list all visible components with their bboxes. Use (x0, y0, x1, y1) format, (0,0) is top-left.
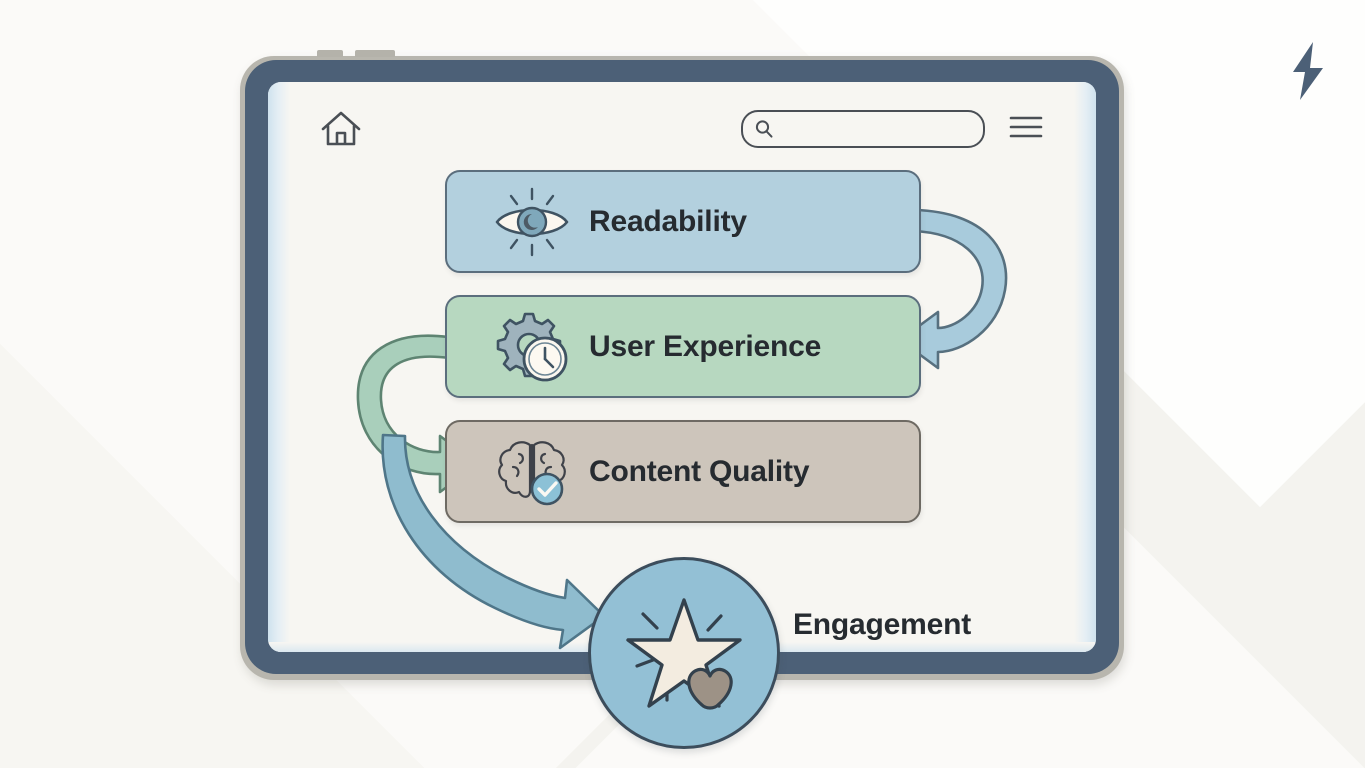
hamburger-menu-icon[interactable] (1008, 112, 1044, 142)
flow-node-content-quality[interactable]: Content Quality (445, 420, 921, 523)
screen-edge-glow-right (1074, 82, 1096, 652)
gear-clock-icon (489, 308, 575, 386)
tablet-button-power[interactable] (355, 50, 395, 57)
flow-node-label: Readability (589, 205, 747, 239)
search-bar[interactable] (741, 110, 985, 148)
flow-node-engagement[interactable] (588, 557, 780, 749)
eye-icon (489, 183, 575, 261)
brain-check-icon (489, 433, 575, 511)
star-heart-icon (609, 578, 759, 728)
flow-node-user-experience[interactable]: User Experience (445, 295, 921, 398)
lightning-bolt-icon (1283, 40, 1331, 102)
tablet-button-volume-up[interactable] (317, 50, 343, 57)
flow-node-label: User Experience (589, 330, 821, 364)
flow-node-label: Engagement (793, 608, 971, 642)
search-input[interactable] (774, 112, 983, 146)
screenshot-stage: Readability User Experience (0, 0, 1365, 768)
flow-node-label: Content Quality (589, 455, 809, 489)
flow-node-readability[interactable]: Readability (445, 170, 921, 273)
search-icon (754, 119, 774, 139)
screen-edge-glow-left (268, 82, 290, 652)
home-icon[interactable] (318, 106, 364, 152)
